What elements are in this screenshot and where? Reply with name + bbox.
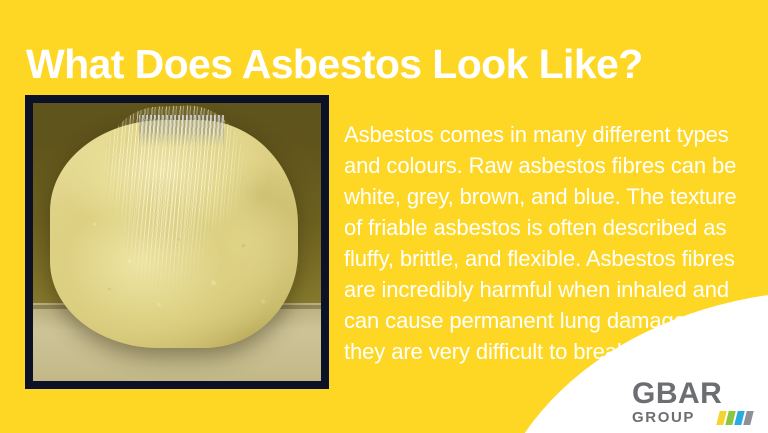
logo-accent-bars <box>718 411 752 425</box>
asbestos-fibre-tuft <box>139 115 223 147</box>
gbar-group-logo[interactable]: GBAR GROUP <box>632 379 752 425</box>
logo-subtitle: GROUP <box>632 410 695 425</box>
page-title: What Does Asbestos Look Like? <box>26 40 742 88</box>
asbestos-infographic: What Does Asbestos Look Like? Asbestos c… <box>0 0 768 433</box>
asbestos-photo <box>33 103 321 381</box>
logo-wordmark: GBAR <box>632 379 752 409</box>
asbestos-rock <box>50 120 298 348</box>
logo-subrow: GROUP <box>632 410 752 425</box>
asbestos-photo-frame <box>25 95 329 389</box>
asbestos-fibre-striations-lower <box>120 175 213 291</box>
